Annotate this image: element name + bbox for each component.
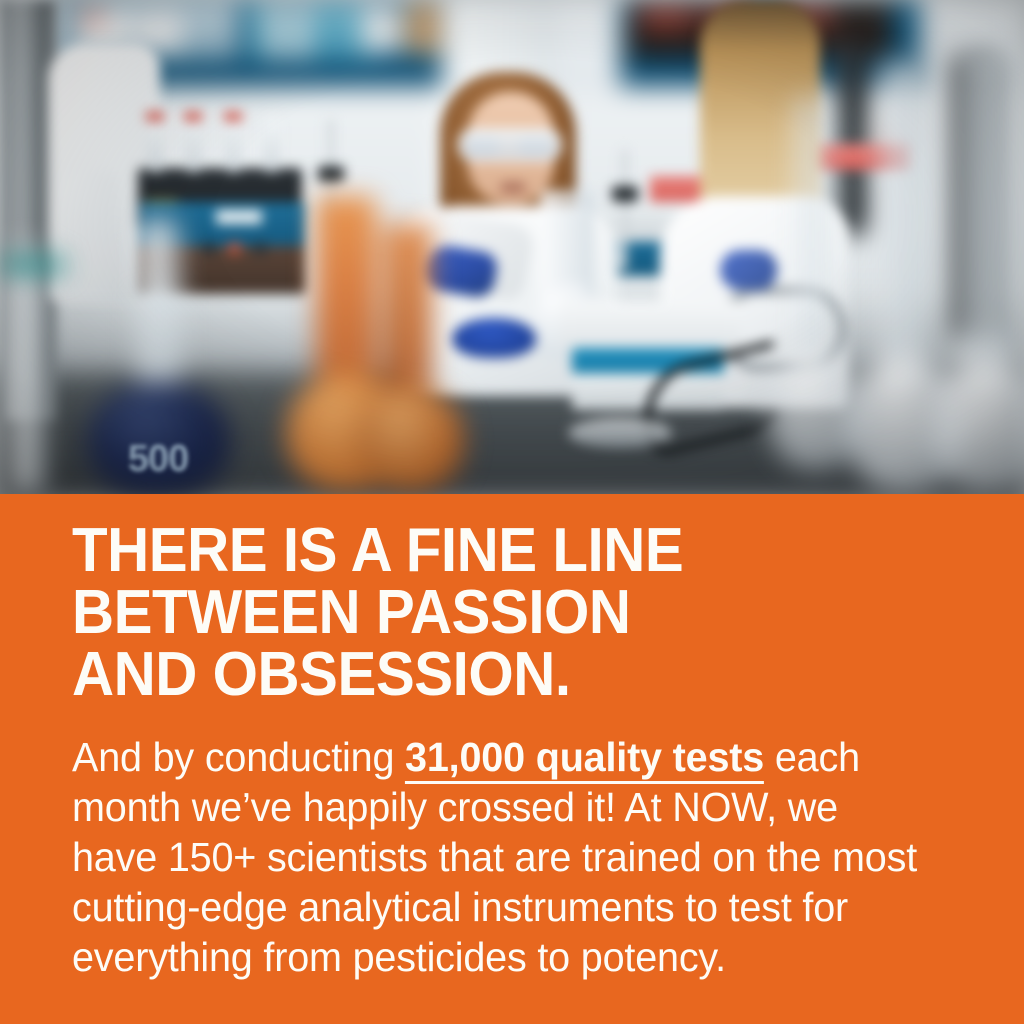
rack-cap-1	[146, 112, 164, 121]
volumetric-flask-neck-blue	[136, 290, 182, 394]
page-title: THERE IS A FINE LINE BETWEEN PASSION AND…	[72, 520, 899, 706]
glass-petri-dish	[568, 418, 672, 448]
lab-photo: 500	[0, 0, 1024, 494]
body-paragraph: And by conducting 31,000 quality tests e…	[72, 732, 921, 982]
shelf-bottle	[362, 6, 402, 52]
rack-vial-3	[226, 118, 241, 172]
headline-line-3: AND OBSESSION.	[72, 644, 899, 706]
tall-flask-body-3	[768, 350, 864, 470]
shelf-cardboard-box	[406, 2, 440, 54]
dark-equipment-column-mid	[836, 44, 870, 234]
instrument-knob-1	[202, 242, 215, 255]
ring-stand-clamp-2	[318, 166, 344, 182]
body-text-before: And by conducting	[72, 734, 405, 780]
emphasis-quality-tests: 31,000 quality tests	[405, 734, 764, 784]
volumetric-flask-amber-2	[356, 386, 464, 492]
orange-text-panel: THERE IS A FINE LINE BETWEEN PASSION AND…	[0, 494, 1024, 1024]
tall-flask-neck-2	[960, 48, 1010, 392]
headline-line-2: BETWEEN PASSION	[72, 582, 899, 644]
social-card: 500 THERE IS A FINE LINE BETWEEN PASSION…	[0, 0, 1024, 1024]
tall-flask-neck-1	[880, 60, 926, 390]
shelf-red-item-1	[640, 6, 694, 30]
center-scientist-mouth	[500, 182, 526, 193]
rack-cap-3	[224, 112, 242, 121]
rack-cap-2	[184, 112, 202, 121]
shelf-label-red	[84, 14, 102, 22]
rack-vial-2	[186, 118, 201, 172]
pipette-teal-cap	[2, 258, 64, 272]
tall-flask-neck-3	[794, 96, 828, 384]
instrument-display	[216, 210, 262, 224]
instrument-knob-3	[254, 242, 267, 255]
rack-vial-4	[264, 118, 279, 172]
blue-nitrile-glove-right	[720, 250, 778, 290]
blue-liquid-flask	[452, 318, 536, 358]
instrument-knob-2	[228, 242, 241, 255]
left-scientist-arm	[56, 170, 118, 300]
cabinet-divider-1	[268, 4, 282, 60]
ring-stand-rod-1	[620, 150, 627, 270]
cabinet-divider-2	[294, 4, 308, 60]
flask-volume-label: 500	[108, 438, 208, 482]
headline-line-1: THERE IS A FINE LINE	[72, 520, 899, 582]
safety-goggles	[458, 128, 562, 162]
pipette-left	[10, 244, 44, 494]
white-tray-instrument	[560, 300, 740, 352]
ring-stand-clamp-1	[612, 186, 638, 202]
rack-vial-1	[148, 118, 163, 172]
